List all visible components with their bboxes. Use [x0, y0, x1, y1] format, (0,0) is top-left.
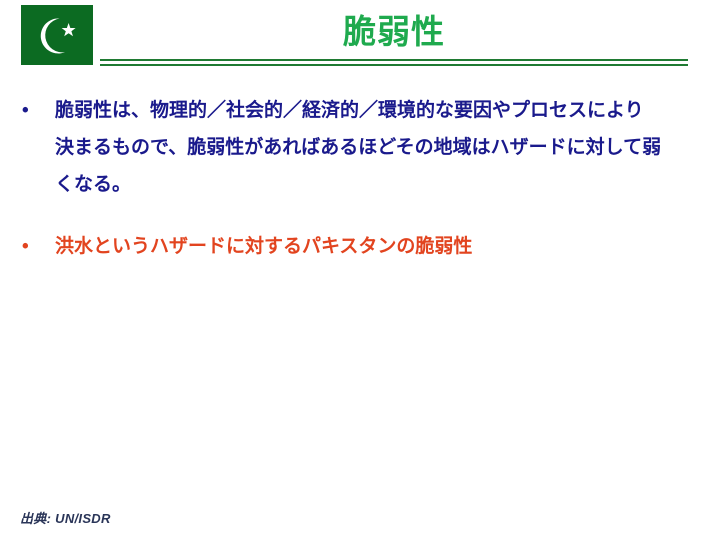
- bullet-item-1: • 脆弱性は、物理的／社会的／経済的／環境的な要因やプロセスにより 決まるもので…: [0, 92, 720, 203]
- pakistan-flag-icon: [21, 5, 93, 65]
- slide-header: 脆弱性: [0, 0, 720, 80]
- title-divider: [100, 59, 688, 66]
- bullet-1-line-1: 脆弱性は、物理的／社会的／経済的／環境的な要因やプロセスにより: [55, 100, 644, 121]
- bullet-marker-1: •: [22, 92, 29, 129]
- bullet-1-line-2-row: 決まるもので、脆弱性があればあるほどその地域はハザードに対して弱: [0, 129, 720, 166]
- bullet-item-2: • 洪水というハザードに対するパキスタンの脆弱性: [0, 228, 720, 265]
- divider-rule-upper: [100, 59, 688, 61]
- divider-rule-lower: [100, 64, 688, 66]
- bullet-1-line-1-row: • 脆弱性は、物理的／社会的／経済的／環境的な要因やプロセスにより: [0, 92, 720, 129]
- bullet-1-line-3-row: くなる。: [0, 166, 720, 203]
- bullet-marker-2: •: [22, 228, 29, 265]
- source-note: 出典: UN/ISDR: [20, 508, 111, 527]
- slide-canvas: 脆弱性 • 脆弱性は、物理的／社会的／経済的／環境的な要因やプロセスにより 決ま…: [0, 0, 720, 540]
- bullet-2-line-1: 洪水というハザードに対するパキスタンの脆弱性: [55, 236, 472, 257]
- bullet-2-line-1-row: • 洪水というハザードに対するパキスタンの脆弱性: [0, 228, 720, 265]
- pakistan-flag-emblem-icon: [21, 5, 93, 65]
- page-title: 脆弱性: [100, 10, 688, 54]
- bullet-1-line-3: くなる。: [55, 174, 131, 195]
- bullet-1-line-2: 決まるもので、脆弱性があればあるほどその地域はハザードに対して弱: [55, 137, 661, 158]
